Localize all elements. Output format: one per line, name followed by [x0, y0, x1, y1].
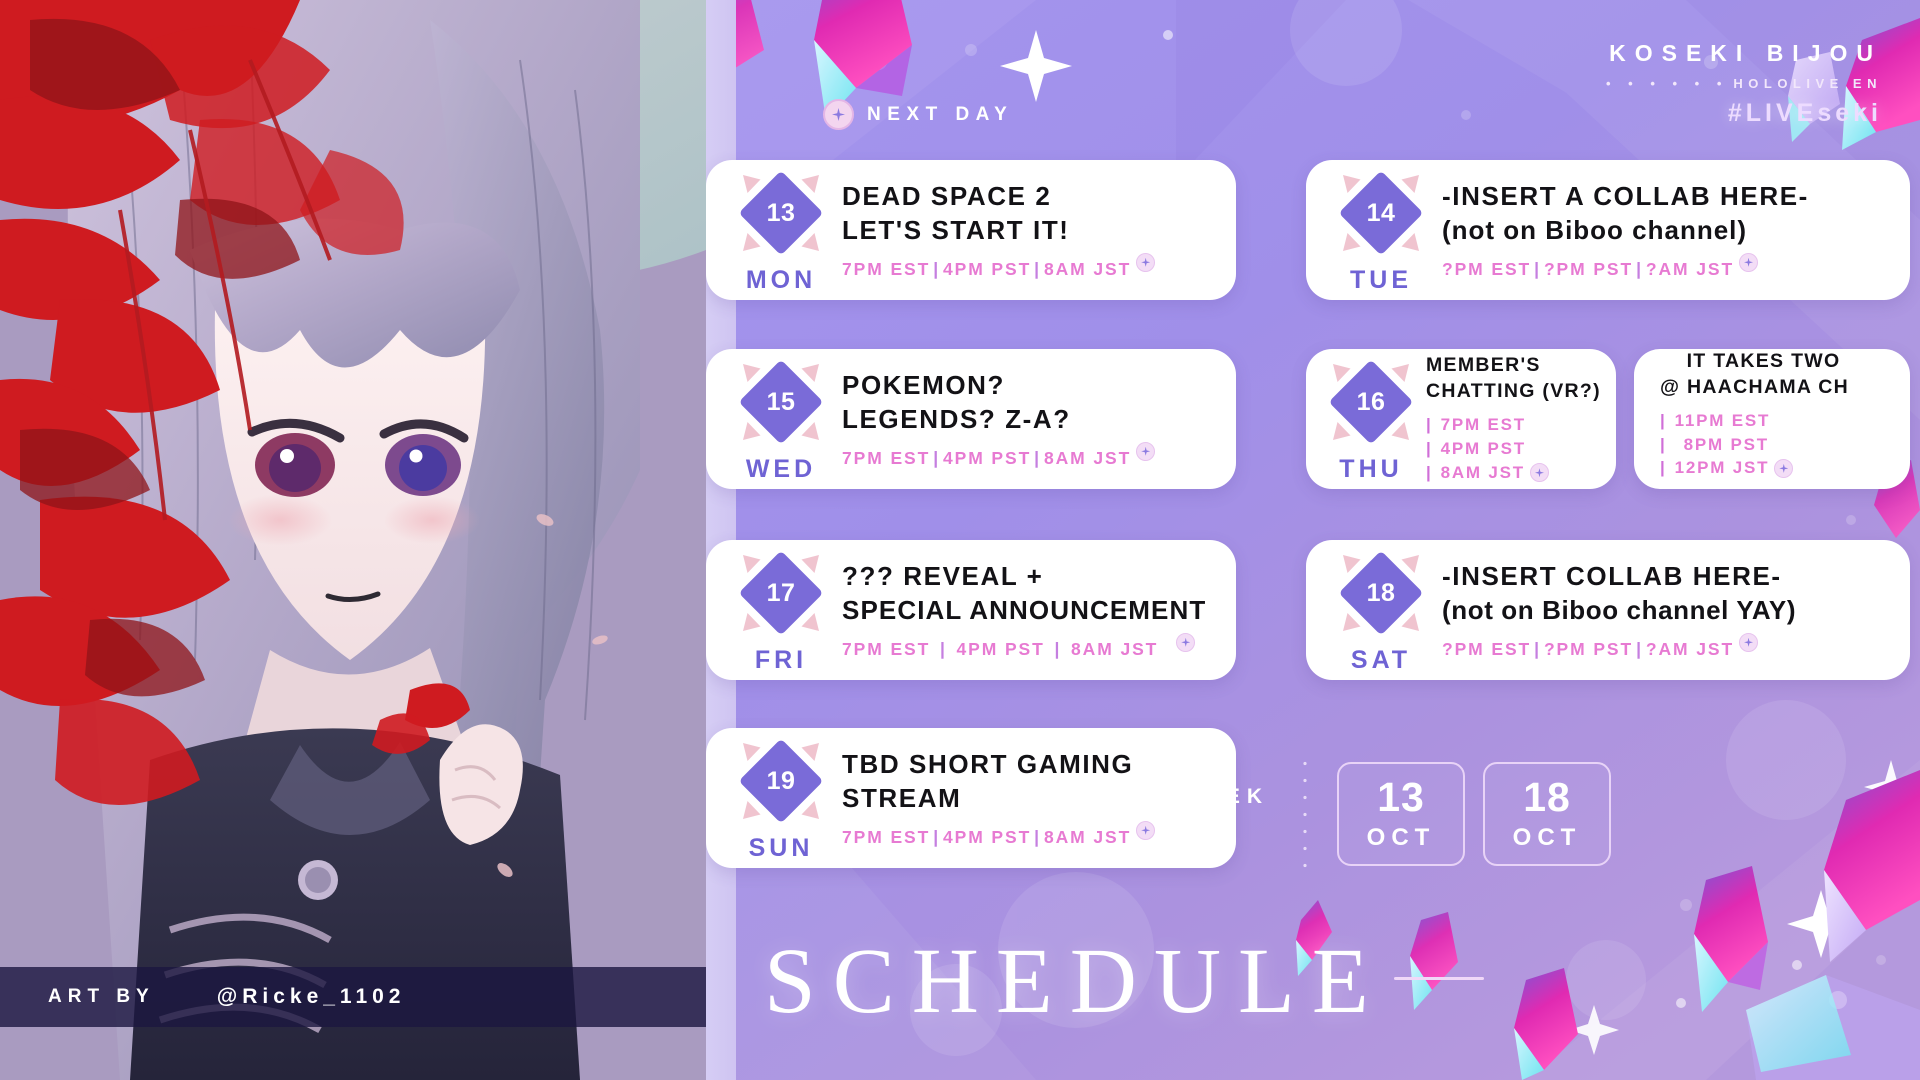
- character-artwork-panel: ART BY @Ricke_1102: [0, 0, 706, 1080]
- card-body: MEMBER'S CHATTING (VR?) |7PM EST |4PM PS…: [1426, 353, 1616, 484]
- time-jst: 8AM JST: [1044, 259, 1131, 280]
- day-badge-thu: 16 THU: [1316, 354, 1426, 484]
- week-of-line1: WEEK: [1178, 780, 1269, 814]
- stream-title-line2: CHATTING (VR?): [1426, 379, 1606, 405]
- time-pst: 4PM PST: [1441, 437, 1526, 461]
- stream-title-line1: IT TAKES TWO: [1660, 349, 1849, 375]
- weekday-label: FRI: [755, 646, 807, 675]
- date-diamond-icon: 15: [737, 358, 825, 446]
- date-diamond-icon: 17: [737, 549, 825, 637]
- card-body: -INSERT A COLLAB HERE- (not on Biboo cha…: [1442, 180, 1910, 280]
- stream-times: 7PM EST|4PM PST|8AM JST: [842, 448, 1218, 469]
- week-end-month: OCT: [1513, 824, 1582, 852]
- dot-separator: • • • • • •: [1606, 76, 1728, 91]
- week-of-label: WEEK OF: [1178, 780, 1269, 847]
- stream-title-line1: DEAD SPACE 2: [842, 180, 1218, 214]
- time-pst: 8PM PST: [1675, 433, 1769, 457]
- stream-title-line2: @ HAACHAMA CH: [1660, 375, 1849, 401]
- card-body: TBD SHORT GAMING STREAM 7PM EST|4PM PST|…: [842, 748, 1236, 848]
- next-day-label: NEXT DAY: [867, 104, 1013, 126]
- sparkle-circle-icon: [823, 99, 854, 130]
- weekday-label: THU: [1339, 455, 1402, 484]
- week-start-date-box: 13 OCT: [1337, 762, 1465, 866]
- card-body: -INSERT COLLAB HERE- (not on Biboo chann…: [1442, 560, 1910, 660]
- week-start-day: 13: [1377, 777, 1425, 818]
- stream-title-line2: SPECIAL ANNOUNCEMENT: [842, 594, 1218, 628]
- time-est: 11PM EST: [1675, 409, 1771, 433]
- date-number: 18: [1337, 549, 1425, 637]
- next-day-marker-icon: [1176, 633, 1195, 652]
- next-day-marker-icon: [1136, 442, 1155, 461]
- weekday-label: WED: [746, 455, 816, 484]
- time-est: 7PM EST: [1441, 413, 1526, 437]
- card-body: IT TAKES TWO @ HAACHAMA CH |11PM EST |8P…: [1660, 349, 1849, 489]
- schedule-card-tue[interactable]: 14 TUE -INSERT A COLLAB HERE- (not on Bi…: [1306, 160, 1910, 300]
- stream-title-line2: LEGENDS? Z-A?: [842, 403, 1218, 437]
- time-jst: 8AM JST: [1044, 448, 1131, 469]
- schedule-card-thu[interactable]: 16 THU MEMBER'S CHATTING (VR?) |7PM EST …: [1306, 349, 1616, 489]
- time-pst: 4PM PST: [943, 259, 1031, 280]
- time-jst: 12PM JST: [1675, 456, 1770, 480]
- day-badge-sun: 19 SUN: [720, 733, 842, 863]
- dotted-divider: [1303, 755, 1307, 873]
- stream-times: 7PM EST | 4PM PST | 8AM JST: [842, 639, 1218, 660]
- weekday-label: TUE: [1350, 266, 1412, 295]
- time-est: 7PM EST: [842, 827, 930, 848]
- day-badge-wed: 15 WED: [720, 354, 842, 484]
- stream-title-line2: LET'S START IT!: [842, 214, 1218, 248]
- week-start-month: OCT: [1367, 824, 1436, 852]
- weekday-label: SUN: [749, 834, 814, 863]
- art-by-label: ART BY: [48, 986, 155, 1008]
- talent-name: KOSEKI BIJOU: [1606, 40, 1882, 67]
- next-day-marker-icon: [1136, 821, 1155, 840]
- time-pst: ?PM PST: [1544, 259, 1633, 280]
- stream-times: |7PM EST |4PM PST |8AM JST: [1426, 413, 1606, 484]
- schedule-card-wed[interactable]: 15 WED POKEMON? LEGENDS? Z-A? 7PM EST|4P…: [706, 349, 1236, 489]
- time-pst: 4PM PST: [943, 448, 1031, 469]
- stream-title-line2: (not on Biboo channel YAY): [1442, 594, 1892, 628]
- artist-handle[interactable]: @Ricke_1102: [217, 985, 406, 1009]
- stream-title-line2: STREAM: [842, 782, 1218, 816]
- day-badge-fri: 17 FRI: [720, 545, 842, 675]
- stream-times: ?PM EST|?PM PST|?AM JST: [1442, 639, 1892, 660]
- weekday-label: SAT: [1351, 646, 1411, 675]
- time-est: 7PM EST: [842, 259, 930, 280]
- date-number: 17: [737, 549, 825, 637]
- date-number: 16: [1327, 358, 1415, 446]
- date-number: 19: [737, 737, 825, 825]
- stream-times: 7PM EST|4PM PST|8AM JST: [842, 259, 1218, 280]
- day-badge-sat: 18 SAT: [1320, 545, 1442, 675]
- schedule-cards: 13 MON DEAD SPACE 2 LET'S START IT! 7PM …: [706, 0, 1920, 1080]
- time-pst: 4PM PST: [943, 827, 1031, 848]
- stream-title-line1: -INSERT COLLAB HERE-: [1442, 560, 1892, 594]
- schedule-graphic: ART BY @Ricke_1102: [0, 0, 1920, 1080]
- time-est: 7PM EST: [842, 448, 930, 469]
- time-est: ?PM EST: [1442, 639, 1531, 660]
- date-number: 13: [737, 169, 825, 257]
- stream-title-line1: MEMBER'S: [1426, 353, 1606, 379]
- time-pst: 4PM PST: [957, 639, 1045, 660]
- card-body: POKEMON? LEGENDS? Z-A? 7PM EST|4PM PST|8…: [842, 369, 1236, 469]
- date-diamond-icon: 14: [1337, 169, 1425, 257]
- schedule-card-mon[interactable]: 13 MON DEAD SPACE 2 LET'S START IT! 7PM …: [706, 160, 1236, 300]
- time-est: ?PM EST: [1442, 259, 1531, 280]
- agency-name: HOLOLIVE EN: [1733, 76, 1882, 91]
- week-of-line2: OF: [1178, 814, 1269, 848]
- next-day-legend: NEXT DAY: [823, 99, 1013, 130]
- next-day-marker-icon: [1739, 253, 1758, 272]
- time-est: 7PM EST: [842, 639, 930, 660]
- date-diamond-icon: 16: [1327, 358, 1415, 446]
- next-day-marker-icon: [1530, 463, 1549, 482]
- schedule-card-thu-second[interactable]: IT TAKES TWO @ HAACHAMA CH |11PM EST |8P…: [1634, 349, 1910, 489]
- next-day-marker-icon: [1739, 633, 1758, 652]
- time-jst: 8AM JST: [1441, 461, 1525, 485]
- card-body: DEAD SPACE 2 LET'S START IT! 7PM EST|4PM…: [842, 180, 1236, 280]
- schedule-title: SCHEDULE: [764, 935, 1386, 1028]
- brand-block: KOSEKI BIJOU • • • • • •HOLOLIVE EN #LIV…: [1606, 40, 1882, 128]
- time-pst: ?PM PST: [1544, 639, 1633, 660]
- date-number: 15: [737, 358, 825, 446]
- schedule-panel: NEXT DAY KOSEKI BIJOU • • • • • •HOLOLIV…: [706, 0, 1920, 1080]
- next-day-marker-icon: [1774, 459, 1793, 478]
- week-end-date-box: 18 OCT: [1483, 762, 1611, 866]
- card-body: ??? REVEAL + SPECIAL ANNOUNCEMENT 7PM ES…: [842, 560, 1236, 660]
- art-credit-bar: ART BY @Ricke_1102: [0, 967, 706, 1027]
- time-jst: ?AM JST: [1646, 639, 1734, 660]
- schedule-card-sun[interactable]: 19 SUN TBD SHORT GAMING STREAM 7PM EST|4…: [706, 728, 1236, 868]
- day-badge-tue: 14 TUE: [1320, 165, 1442, 295]
- date-number: 14: [1337, 169, 1425, 257]
- next-day-marker-icon: [1136, 253, 1155, 272]
- date-diamond-icon: 18: [1337, 549, 1425, 637]
- time-jst: ?AM JST: [1646, 259, 1734, 280]
- title-rule: [1394, 977, 1484, 980]
- stream-times: ?PM EST|?PM PST|?AM JST: [1442, 259, 1892, 280]
- agency-line: • • • • • •HOLOLIVE EN: [1606, 76, 1882, 91]
- time-jst: 8AM JST: [1044, 827, 1131, 848]
- stream-title-line2: (not on Biboo channel): [1442, 214, 1892, 248]
- stream-times: 7PM EST|4PM PST|8AM JST: [842, 827, 1218, 848]
- week-of-block: WEEK OF 13 OCT 18 OCT: [1178, 755, 1629, 873]
- stream-title-line1: POKEMON?: [842, 369, 1218, 403]
- stream-title-line1: ??? REVEAL +: [842, 560, 1218, 594]
- weekday-label: MON: [746, 266, 816, 295]
- stream-title-line1: -INSERT A COLLAB HERE-: [1442, 180, 1892, 214]
- time-jst: 8AM JST: [1071, 639, 1158, 660]
- day-badge-mon: 13 MON: [720, 165, 842, 295]
- schedule-card-fri[interactable]: 17 FRI ??? REVEAL + SPECIAL ANNOUNCEMENT…: [706, 540, 1236, 680]
- date-diamond-icon: 13: [737, 169, 825, 257]
- stream-title-line1: TBD SHORT GAMING: [842, 748, 1218, 782]
- schedule-title-block: SCHEDULE: [764, 935, 1484, 1028]
- schedule-card-sat[interactable]: 18 SAT -INSERT COLLAB HERE- (not on Bibo…: [1306, 540, 1910, 680]
- character-illustration: [0, 0, 706, 1080]
- week-end-day: 18: [1523, 777, 1571, 818]
- stream-hashtag: #LIVEseki: [1606, 99, 1882, 128]
- stream-times: |11PM EST |8PM PST |12PM JST: [1660, 409, 1849, 480]
- date-diamond-icon: 19: [737, 737, 825, 825]
